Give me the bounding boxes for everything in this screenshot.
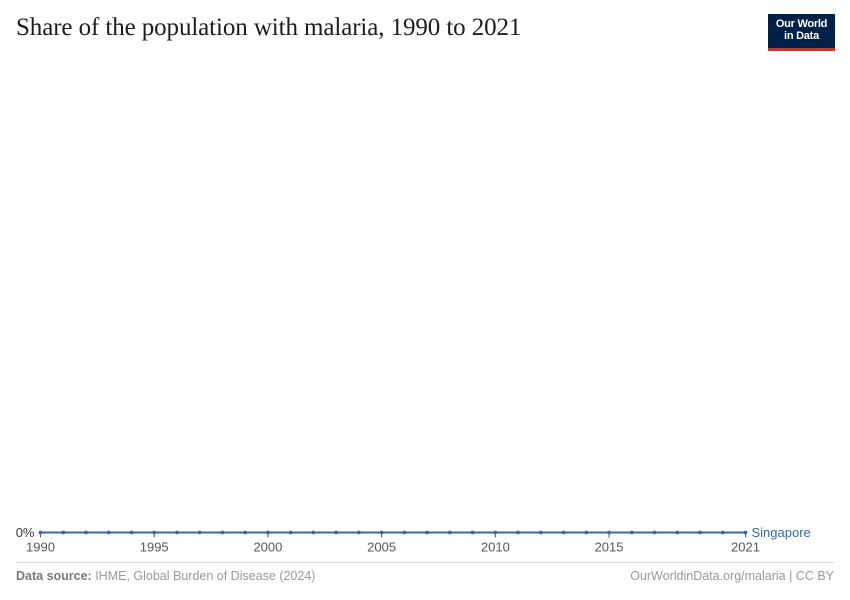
- data-point-marker[interactable]: [198, 531, 202, 535]
- data-source-label: Data source:: [16, 569, 92, 583]
- data-point-marker[interactable]: [61, 531, 65, 535]
- data-point-marker[interactable]: [539, 531, 543, 535]
- data-point-marker[interactable]: [357, 531, 361, 535]
- data-point-marker[interactable]: [584, 531, 588, 535]
- data-point-marker[interactable]: [266, 531, 270, 535]
- data-point-marker[interactable]: [312, 531, 316, 535]
- page-title: Share of the population with malaria, 19…: [16, 14, 521, 42]
- data-point-marker[interactable]: [744, 531, 748, 535]
- our-world-in-data-logo[interactable]: Our World in Data: [768, 14, 835, 51]
- data-point-marker[interactable]: [107, 531, 111, 535]
- data-point-marker[interactable]: [402, 531, 406, 535]
- data-point-marker[interactable]: [221, 531, 225, 535]
- data-point-marker[interactable]: [425, 531, 429, 535]
- line-chart-svg[interactable]: 0% 1990199520002005201020152021 Singapor…: [0, 62, 850, 556]
- x-tick-label: 2000: [253, 540, 282, 555]
- license-link[interactable]: OurWorldinData.org/malaria | CC BY: [630, 569, 834, 583]
- data-point-marker[interactable]: [152, 531, 156, 535]
- y-tick-label: 0%: [16, 525, 35, 540]
- x-tick-label: 2021: [731, 540, 760, 555]
- series-label[interactable]: Singapore: [752, 525, 811, 540]
- data-point-marker[interactable]: [493, 531, 497, 535]
- x-axis-tick-labels: 1990199520002005201020152021: [26, 540, 760, 555]
- data-point-marker[interactable]: [562, 531, 566, 535]
- data-point-marker[interactable]: [84, 531, 88, 535]
- data-point-marker[interactable]: [334, 531, 338, 535]
- logo-line-2: in Data: [784, 31, 819, 43]
- x-tick-label: 2015: [595, 540, 624, 555]
- x-tick-label: 1990: [26, 540, 55, 555]
- x-tick-label: 2005: [367, 540, 396, 555]
- footer-divider: [16, 562, 834, 563]
- data-point-marker[interactable]: [698, 531, 702, 535]
- x-tick-label: 1995: [140, 540, 169, 555]
- series-labels[interactable]: Singapore: [752, 525, 811, 540]
- data-point-marker[interactable]: [471, 531, 475, 535]
- data-point-marker[interactable]: [289, 531, 293, 535]
- data-point-marker[interactable]: [675, 531, 679, 535]
- data-point-marker[interactable]: [380, 531, 384, 535]
- data-source: Data source: IHME, Global Burden of Dise…: [16, 569, 315, 583]
- data-point-marker[interactable]: [175, 531, 179, 535]
- data-source-value: IHME, Global Burden of Disease (2024): [92, 569, 316, 583]
- chart-header: Share of the population with malaria, 19…: [0, 0, 850, 62]
- data-point-marker[interactable]: [516, 531, 520, 535]
- data-point-marker[interactable]: [39, 531, 43, 535]
- data-point-marker[interactable]: [653, 531, 657, 535]
- data-point-marker[interactable]: [243, 531, 247, 535]
- data-point-marker[interactable]: [448, 531, 452, 535]
- data-point-marker[interactable]: [721, 531, 725, 535]
- chart-footer: Data source: IHME, Global Burden of Dise…: [0, 556, 850, 600]
- logo-line-1: Our World: [776, 19, 827, 31]
- x-tick-label: 2010: [481, 540, 510, 555]
- data-point-marker[interactable]: [130, 531, 134, 535]
- y-axis: 0%: [16, 525, 35, 540]
- chart-plot-area[interactable]: 0% 1990199520002005201020152021 Singapor…: [0, 62, 850, 556]
- data-point-marker[interactable]: [630, 531, 634, 535]
- data-point-marker[interactable]: [607, 531, 611, 535]
- series-group[interactable]: [39, 531, 748, 535]
